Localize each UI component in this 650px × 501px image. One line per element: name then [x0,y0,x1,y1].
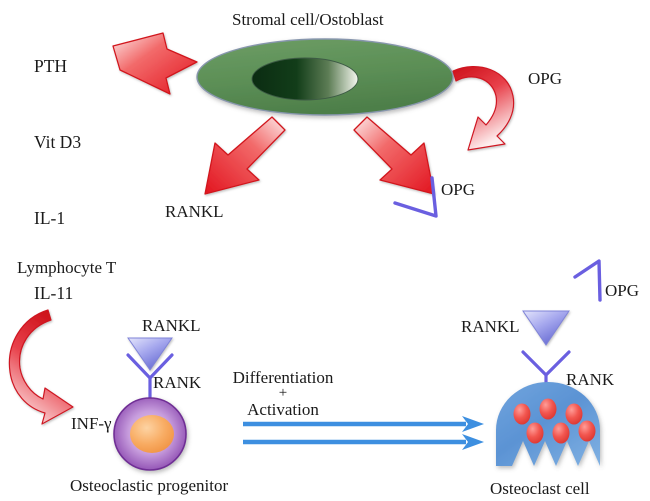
stimuli-item-il1: IL-1 [34,206,81,231]
stimuli-item-vitd3: Vit D3 [34,130,81,155]
stromal-cell-title: Stromal cell/Ostoblast [232,10,384,30]
label-activation: Activation [247,400,319,420]
opg-hook-bottom-icon [575,261,600,300]
label-rankl-from-stromal: RANKL [165,202,224,222]
label-inf-gamma: INF-γ [71,414,112,434]
pathway-figure: PTH Vit D3 IL-1 IL-11 Stromal cell/Ostob… [0,0,650,501]
stromal-nucleus-icon [252,58,358,100]
label-rank-progenitor: RANK [153,373,201,393]
label-lymphocyte-t: Lymphocyte T [17,258,116,278]
progenitor-nucleus-icon [130,415,174,453]
opg-arrow-right-icon [354,117,434,194]
stimuli-item-pth: PTH [34,54,81,79]
label-osteoclastic-progenitor: Osteoclastic progenitor [70,476,228,496]
stimulus-arrow-icon [113,33,197,94]
label-rankl-progenitor: RANKL [142,316,201,336]
label-rank-osteoclast: RANK [566,370,614,390]
process-arrows-icon [243,416,484,450]
label-rankl-osteoclast: RANKL [461,317,520,337]
stimuli-list: PTH Vit D3 IL-1 IL-11 [34,4,81,357]
label-opg-top: OPG [528,69,562,89]
rankl-triangle-osteoclast-icon [523,311,569,345]
rankl-triangle-progenitor-icon [128,338,172,370]
label-opg-middle: OPG [441,180,475,200]
stimuli-item-il11: IL-11 [34,281,81,306]
rankl-arrow-left-icon [205,117,285,194]
opg-curved-arrow-icon [453,67,514,150]
label-opg-bottom: OPG [605,281,639,301]
label-osteoclast-cell: Osteoclast cell [490,479,590,499]
